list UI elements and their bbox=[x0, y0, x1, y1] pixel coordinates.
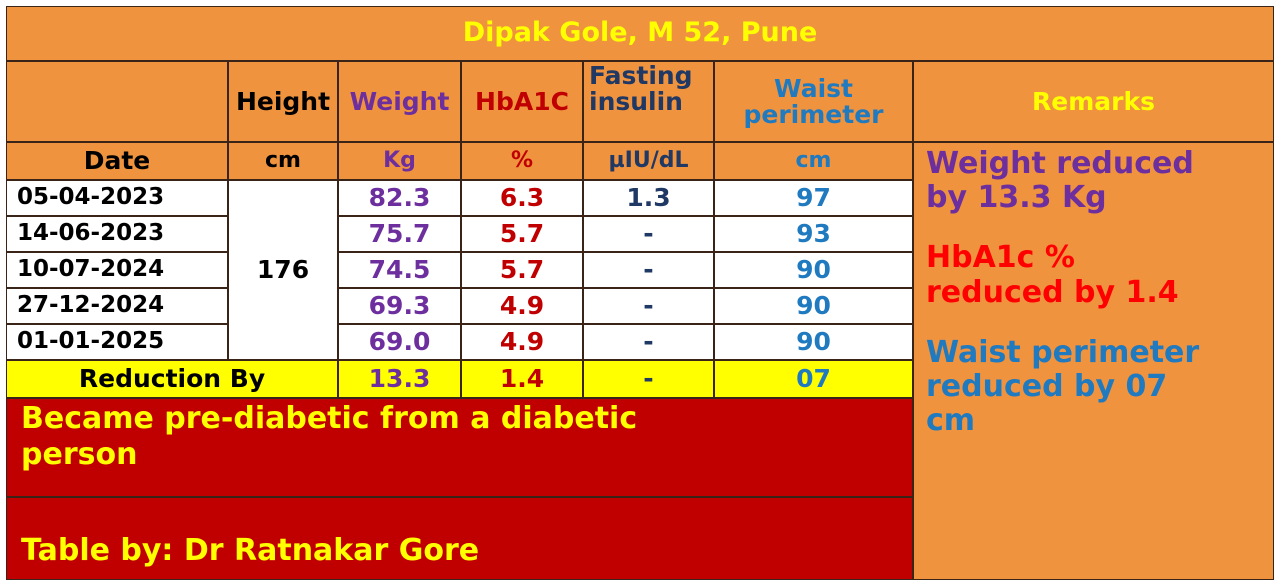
table-row: 10-07-2024 bbox=[6, 252, 228, 288]
header-date: Date bbox=[6, 142, 228, 180]
table-row: 5.7 bbox=[461, 252, 583, 288]
table-row: 93 bbox=[714, 216, 913, 252]
table-row: 75.7 bbox=[338, 216, 461, 252]
unit-height: cm bbox=[228, 142, 338, 180]
remark-waist-line1: Waist perimeter bbox=[926, 336, 1267, 370]
cell-hba1c: 6.3 bbox=[500, 185, 544, 211]
table-row: 1.3 bbox=[583, 180, 714, 216]
header-fasting-insulin-line1: Fasting bbox=[589, 63, 693, 89]
header-weight-label: Weight bbox=[350, 89, 450, 115]
header-fasting-insulin-line2: insulin bbox=[589, 89, 683, 115]
header-height: Height bbox=[228, 61, 338, 142]
cell-date: 27-12-2024 bbox=[17, 294, 164, 318]
unit-fasting-insulin-label: µIU/dL bbox=[608, 150, 688, 173]
header-weight: Weight bbox=[338, 61, 461, 142]
cell-fasting-insulin: - bbox=[643, 293, 653, 319]
cell-hba1c: 5.7 bbox=[500, 221, 544, 247]
cell-hba1c: 4.9 bbox=[500, 293, 544, 319]
table-row: 74.5 bbox=[338, 252, 461, 288]
table-row: 90 bbox=[714, 252, 913, 288]
remark-weight-line2: by 13.3 Kg bbox=[926, 181, 1267, 215]
table-row: 27-12-2024 bbox=[6, 288, 228, 324]
page-title: Dipak Gole, M 52, Pune bbox=[463, 19, 818, 47]
table-row: 69.0 bbox=[338, 324, 461, 360]
cell-fasting-insulin: - bbox=[643, 257, 653, 283]
unit-weight: Kg bbox=[338, 142, 461, 180]
header-date-label: Date bbox=[84, 148, 151, 174]
header-hba1c: HbA1C bbox=[461, 61, 583, 142]
header-height-label: Height bbox=[236, 89, 330, 115]
table-row: 14-06-2023 bbox=[6, 216, 228, 252]
cell-date: 14-06-2023 bbox=[17, 222, 164, 246]
cell-hba1c: 5.7 bbox=[500, 257, 544, 283]
reduction-weight: 13.3 bbox=[369, 366, 431, 392]
header-waist-line2: perimeter bbox=[744, 102, 884, 128]
table-row: 01-01-2025 bbox=[6, 324, 228, 360]
conclusion-note: Became pre-diabetic from a diabetic pers… bbox=[6, 398, 913, 497]
table-row: 97 bbox=[714, 180, 913, 216]
cell-waist: 93 bbox=[796, 221, 831, 247]
unit-fasting-insulin: µIU/dL bbox=[583, 142, 714, 180]
table-row: 4.9 bbox=[461, 324, 583, 360]
header-waist-perimeter: Waist perimeter bbox=[714, 61, 913, 142]
remarks-body: Weight reduced by 13.3 Kg HbA1c % reduce… bbox=[913, 142, 1274, 580]
height-value-cell: 176 bbox=[228, 180, 338, 360]
reduction-hba1c: 1.4 bbox=[500, 366, 544, 392]
table-row: - bbox=[583, 324, 714, 360]
remark-waist-line2: reduced by 07 bbox=[926, 370, 1267, 404]
header-remarks-label: Remarks bbox=[1032, 89, 1155, 115]
cell-waist: 90 bbox=[796, 293, 831, 319]
cell-fasting-insulin: - bbox=[643, 329, 653, 355]
table-grid: Dipak Gole, M 52, Pune Height Weight HbA… bbox=[6, 6, 1274, 580]
table-row: - bbox=[583, 252, 714, 288]
table-row: 90 bbox=[714, 288, 913, 324]
reduction-waist: 07 bbox=[796, 366, 831, 392]
table-row: 5.7 bbox=[461, 216, 583, 252]
reduction-label: Reduction By bbox=[79, 366, 265, 392]
remark-hba1c-line1: HbA1c % bbox=[926, 241, 1267, 275]
reduction-label-cell: Reduction By bbox=[6, 360, 338, 398]
reduction-waist-cell: 07 bbox=[714, 360, 913, 398]
cell-weight: 74.5 bbox=[369, 257, 431, 283]
unit-hba1c: % bbox=[461, 142, 583, 180]
header-fasting-insulin: Fasting insulin bbox=[583, 61, 714, 142]
reduction-weight-cell: 13.3 bbox=[338, 360, 461, 398]
header-waist-line1: Waist bbox=[774, 76, 853, 102]
credit-note: Table by: Dr Ratnakar Gore bbox=[6, 497, 913, 580]
conclusion-line2: person bbox=[21, 437, 137, 473]
cell-waist: 97 bbox=[796, 185, 831, 211]
credit-text: Table by: Dr Ratnakar Gore bbox=[21, 533, 479, 569]
cell-hba1c: 4.9 bbox=[500, 329, 544, 355]
cell-fasting-insulin: 1.3 bbox=[626, 185, 670, 211]
remark-hba1c-line2: reduced by 1.4 bbox=[926, 276, 1267, 310]
table-row: 4.9 bbox=[461, 288, 583, 324]
cell-weight: 69.3 bbox=[369, 293, 431, 319]
table-row: 90 bbox=[714, 324, 913, 360]
reduction-hba1c-cell: 1.4 bbox=[461, 360, 583, 398]
unit-waist-label: cm bbox=[796, 150, 832, 173]
cell-waist: 90 bbox=[796, 329, 831, 355]
reduction-fasting-insulin: - bbox=[643, 366, 653, 392]
cell-fasting-insulin: - bbox=[643, 221, 653, 247]
cell-waist: 90 bbox=[796, 257, 831, 283]
header-remarks: Remarks bbox=[913, 61, 1274, 142]
remark-waist-line3: cm bbox=[926, 404, 1267, 438]
remark-weight-line1: Weight reduced bbox=[926, 147, 1267, 181]
unit-height-label: cm bbox=[265, 150, 301, 173]
table-row: 82.3 bbox=[338, 180, 461, 216]
cell-weight: 69.0 bbox=[369, 329, 431, 355]
cell-date: 01-01-2025 bbox=[17, 330, 164, 354]
patient-title-row: Dipak Gole, M 52, Pune bbox=[6, 6, 1274, 61]
height-value: 176 bbox=[257, 257, 309, 283]
table-row: 05-04-2023 bbox=[6, 180, 228, 216]
table-sheet: Dipak Gole, M 52, Pune Height Weight HbA… bbox=[6, 6, 1274, 580]
table-row: 6.3 bbox=[461, 180, 583, 216]
header-hba1c-label: HbA1C bbox=[475, 89, 569, 115]
conclusion-line1: Became pre-diabetic from a diabetic bbox=[21, 401, 637, 437]
table-row: 69.3 bbox=[338, 288, 461, 324]
unit-hba1c-label: % bbox=[511, 150, 533, 173]
header-blank-date-cell bbox=[6, 61, 228, 142]
unit-waist: cm bbox=[714, 142, 913, 180]
table-row: - bbox=[583, 216, 714, 252]
unit-weight-label: Kg bbox=[383, 150, 416, 173]
reduction-insulin-cell: - bbox=[583, 360, 714, 398]
cell-weight: 75.7 bbox=[369, 221, 431, 247]
table-row: - bbox=[583, 288, 714, 324]
cell-date: 05-04-2023 bbox=[17, 186, 164, 210]
cell-weight: 82.3 bbox=[369, 185, 431, 211]
cell-date: 10-07-2024 bbox=[17, 258, 164, 282]
